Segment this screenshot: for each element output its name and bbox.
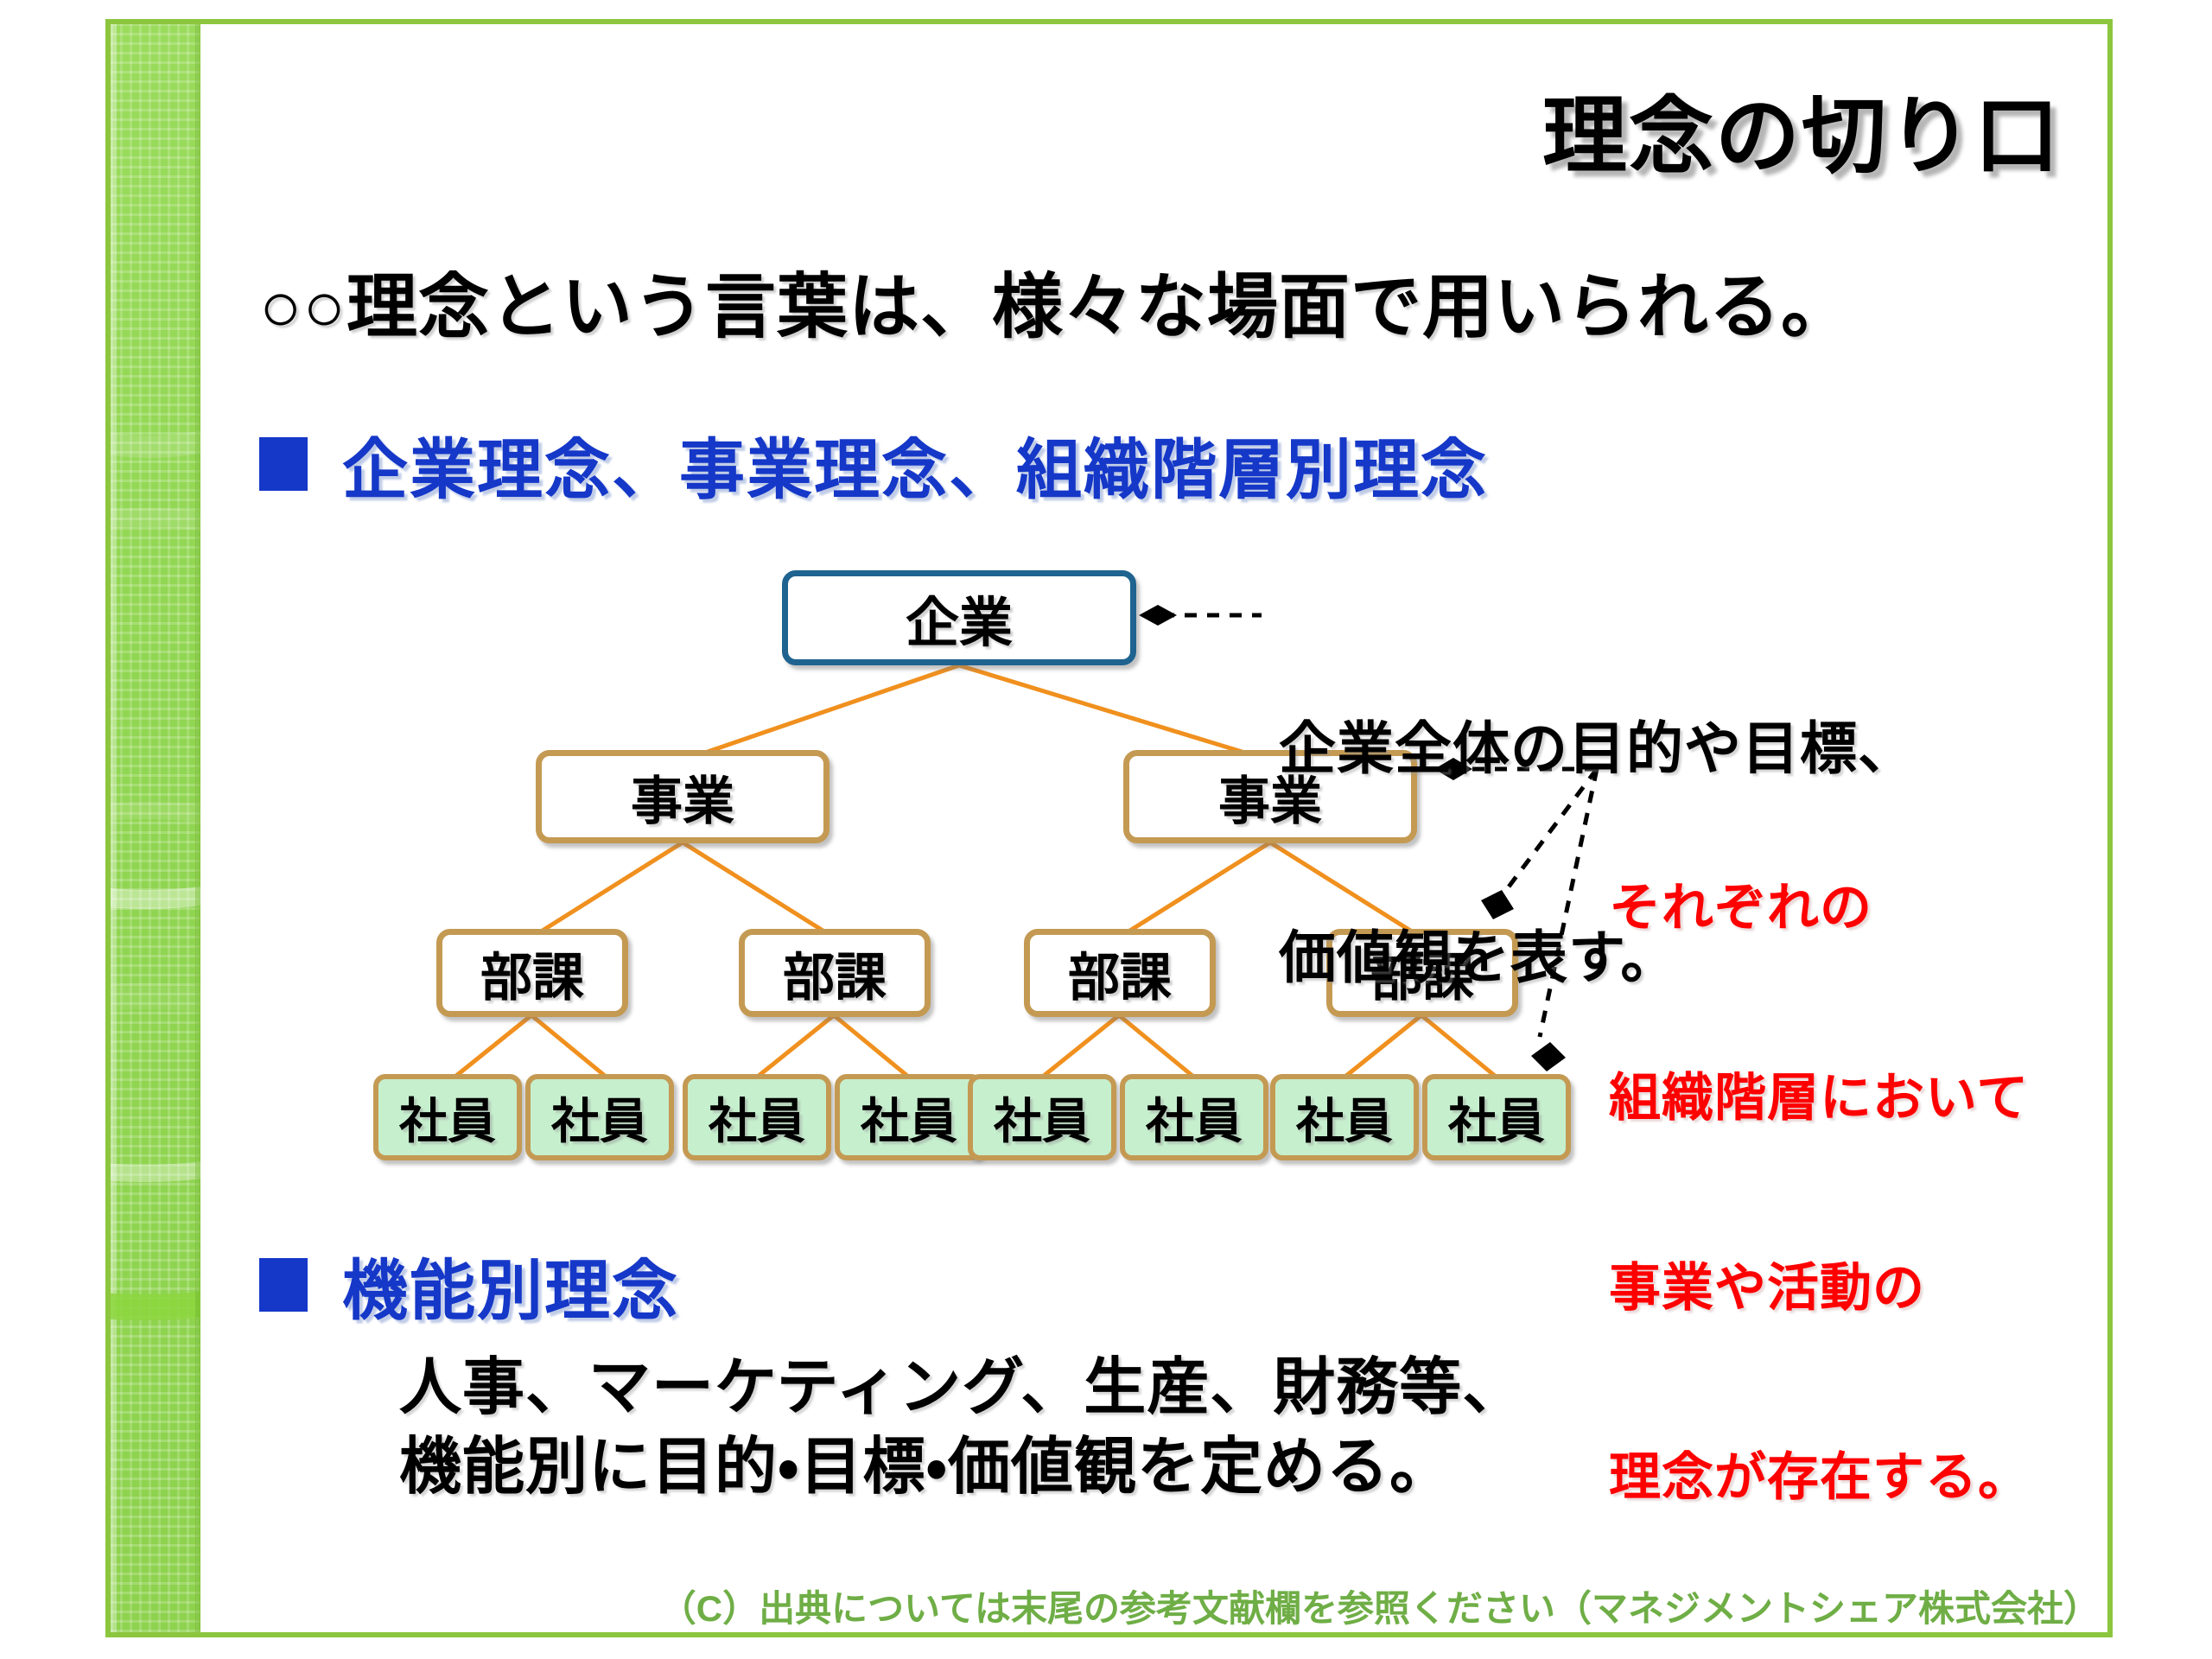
org-node-employee: 社員 <box>683 1074 831 1160</box>
band-shadow-edge <box>195 24 200 1632</box>
lead-sentence: ○○理念という言葉は、様々な場面で用いられる。 <box>259 249 1853 352</box>
band-swoosh-3-icon <box>111 802 200 1182</box>
band-swoosh-1-icon <box>111 24 200 458</box>
annotation-hierarchy-line3: 事業や活動の <box>1609 1256 2031 1319</box>
left-decorative-band <box>111 24 200 1632</box>
annotation-hierarchy-line1: それぞれの <box>1609 876 2031 939</box>
org-node-employee: 社員 <box>373 1074 522 1160</box>
band-swoosh-2-icon <box>111 508 200 909</box>
footer-copyright: （C）出典については末尾の参考文献欄を参照ください（マネジメントシェア株式会社） <box>0 1580 2100 1632</box>
section-heading-label: 機能別理念 <box>342 1237 679 1332</box>
org-node-employee: 社員 <box>1120 1074 1268 1160</box>
functional-body-line1: 人事、マーケティング、生産、財務等、 <box>399 1348 1525 1427</box>
org-node-department: 部課 <box>739 929 931 1017</box>
org-node-company: 企業 <box>782 570 1136 665</box>
section-heading-label: 企業理念、事業理念、組織階層別理念 <box>342 416 1488 512</box>
annotation-hierarchy-note: それぞれの 組織階層において 事業や活動の 理念が存在する。 <box>1609 750 2031 1636</box>
org-node-department: 部課 <box>436 929 628 1017</box>
slide-title: 理念の切り口 <box>1542 67 2061 190</box>
square-bullet-icon <box>259 1258 308 1312</box>
org-node-business: 事業 <box>536 750 829 843</box>
org-node-employee: 社員 <box>525 1074 674 1160</box>
annotation-hierarchy-line4: 理念が存在する。 <box>1609 1446 2031 1509</box>
section-heading-organizational: 企業理念、事業理念、組織階層別理念 <box>259 416 1488 512</box>
square-bullet-icon <box>259 437 308 491</box>
band-swoosh-4-icon <box>111 983 200 1320</box>
functional-body-line2: 機能別に目的・目標・価値観を定める。 <box>399 1427 1525 1507</box>
functional-body-text: 人事、マーケティング、生産、財務等、 機能別に目的・目標・価値観を定める。 <box>399 1348 1525 1507</box>
slide-canvas: 理念の切り口 ○○理念という言葉は、様々な場面で用いられる。 企業理念、事業理念… <box>0 0 2212 1659</box>
org-node-department: 部課 <box>1024 929 1216 1017</box>
annotation-hierarchy-line2: 組織階層において <box>1609 1066 2031 1129</box>
section-heading-functional: 機能別理念 <box>259 1237 679 1332</box>
org-node-employee: 社員 <box>968 1074 1116 1160</box>
org-node-employee: 社員 <box>835 1074 983 1160</box>
band-highlight-edge <box>111 24 117 1632</box>
